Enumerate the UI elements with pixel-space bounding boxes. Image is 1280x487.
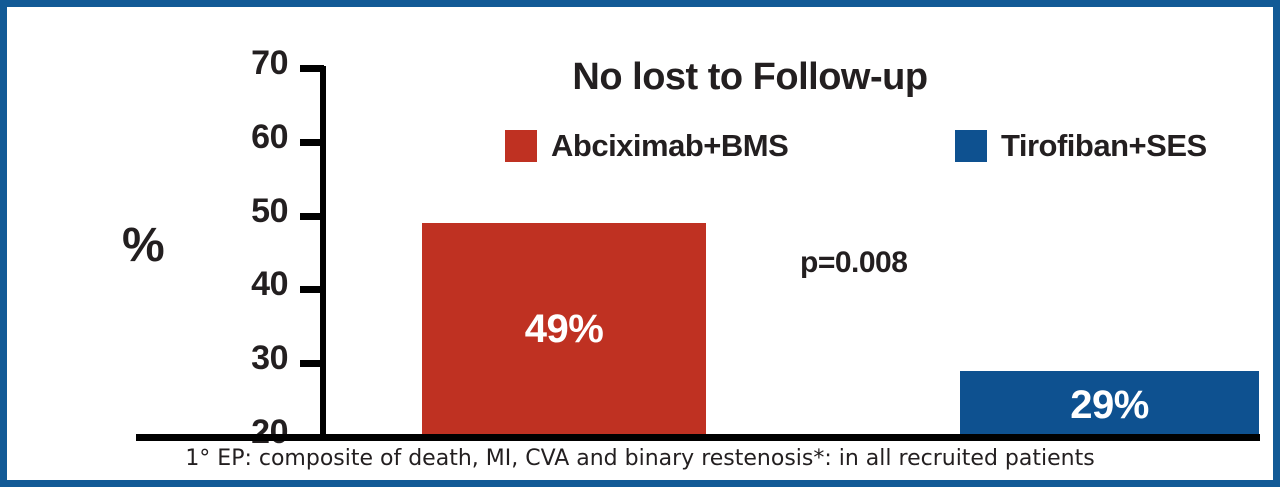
y-axis-tick-label: 30	[208, 339, 288, 378]
bar-value-label: 29%	[960, 383, 1259, 428]
y-axis-tick-label: 50	[208, 192, 288, 231]
slide-canvas: No lost to Follow-up Abciximab+BMS Tirof…	[0, 0, 1280, 487]
bar-chart: No lost to Follow-up Abciximab+BMS Tirof…	[0, 0, 1280, 487]
y-axis-tick-label: 70	[208, 44, 288, 83]
y-axis-tick-label: 60	[208, 118, 288, 157]
y-axis-tick-label: 40	[208, 265, 288, 304]
y-axis-title: %	[122, 218, 164, 273]
y-axis-tick-mark-icon	[300, 139, 324, 146]
chart-footnote: 1° EP: composite of death, MI, CVA and b…	[0, 446, 1280, 471]
legend-item-tirofiban-ses: Tirofiban+SES	[955, 124, 1207, 168]
bar-abciximab-bms: 49%	[422, 223, 706, 437]
x-axis-line	[136, 434, 1260, 441]
legend-item-label: Tirofiban+SES	[1001, 128, 1207, 164]
legend-item-label: Abciximab+BMS	[551, 128, 788, 164]
y-axis-line	[320, 66, 326, 440]
y-axis-tick-mark-icon	[300, 213, 324, 220]
bar-tirofiban-ses: 29%	[960, 371, 1259, 437]
chart-legend: Abciximab+BMS Tirofiban+SES	[505, 124, 1265, 168]
p-value-annotation: p=0.008	[800, 246, 907, 280]
y-axis-tick-mark-icon	[300, 360, 324, 367]
chart-title: No lost to Follow-up	[400, 56, 1100, 99]
legend-item-abciximab-bms: Abciximab+BMS	[505, 124, 788, 168]
bar-value-label: 49%	[422, 307, 706, 352]
y-axis-tick-mark-icon	[300, 286, 324, 293]
legend-swatch-icon	[505, 130, 537, 162]
legend-swatch-icon	[955, 130, 987, 162]
y-axis-tick-mark-icon	[300, 65, 324, 72]
